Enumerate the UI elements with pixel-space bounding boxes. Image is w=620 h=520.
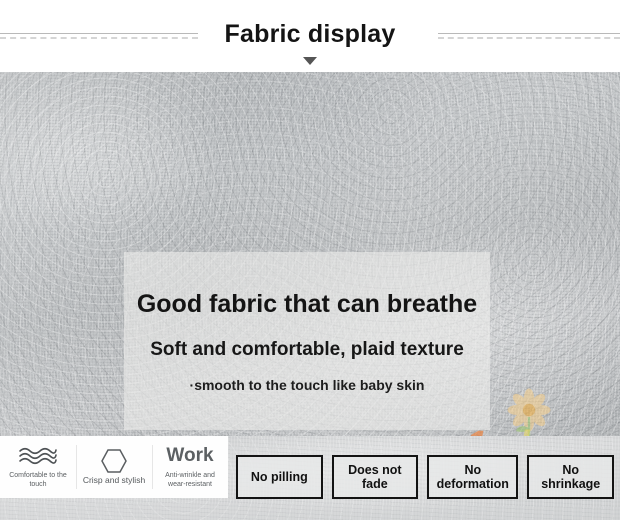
badge-does-not-fade[interactable]: Does not fade <box>332 455 419 499</box>
caret-down-icon <box>303 57 317 65</box>
feature-antiwrinkle[interactable]: Work Anti-wrinkle and wear-resistant <box>152 436 228 498</box>
feature-comfortable[interactable]: Comfortable to the touch <box>0 436 76 498</box>
feature-antiwrinkle-word: Work <box>166 445 213 467</box>
fabric-copy-heading: Good fabric that can breathe <box>137 290 477 319</box>
badge-no-shrinkage[interactable]: No shrinkage <box>527 455 614 499</box>
feature-antiwrinkle-label: Anti-wrinkle and wear-resistant <box>156 471 224 489</box>
waves-icon <box>17 444 59 468</box>
fabric-copy-subheading: Soft and comfortable, plaid texture <box>150 339 464 361</box>
work-text-icon: Work <box>166 444 213 468</box>
fabric-photo: Good fabric that can breathe Soft and co… <box>0 72 620 436</box>
hexagon-icon <box>100 449 128 473</box>
page-header: Fabric display <box>0 0 620 72</box>
badge-group: No pilling Does not fade No deformation … <box>236 444 614 510</box>
badge-no-pilling[interactable]: No pilling <box>236 455 323 499</box>
fabric-copy-card: Good fabric that can breathe Soft and co… <box>124 252 490 430</box>
feature-band: Comfortable to the touch Crisp and styli… <box>0 436 620 520</box>
page-title: Fabric display <box>0 20 620 49</box>
feature-crisp[interactable]: Crisp and stylish <box>76 436 152 498</box>
badge-no-deformation[interactable]: No deformation <box>427 455 518 499</box>
feature-panel-group: Comfortable to the touch Crisp and styli… <box>0 436 228 498</box>
fabric-copy-note: ·smooth to the touch like baby skin <box>190 377 425 393</box>
feature-comfortable-label: Comfortable to the touch <box>4 471 72 489</box>
feature-crisp-label: Crisp and stylish <box>83 476 145 485</box>
